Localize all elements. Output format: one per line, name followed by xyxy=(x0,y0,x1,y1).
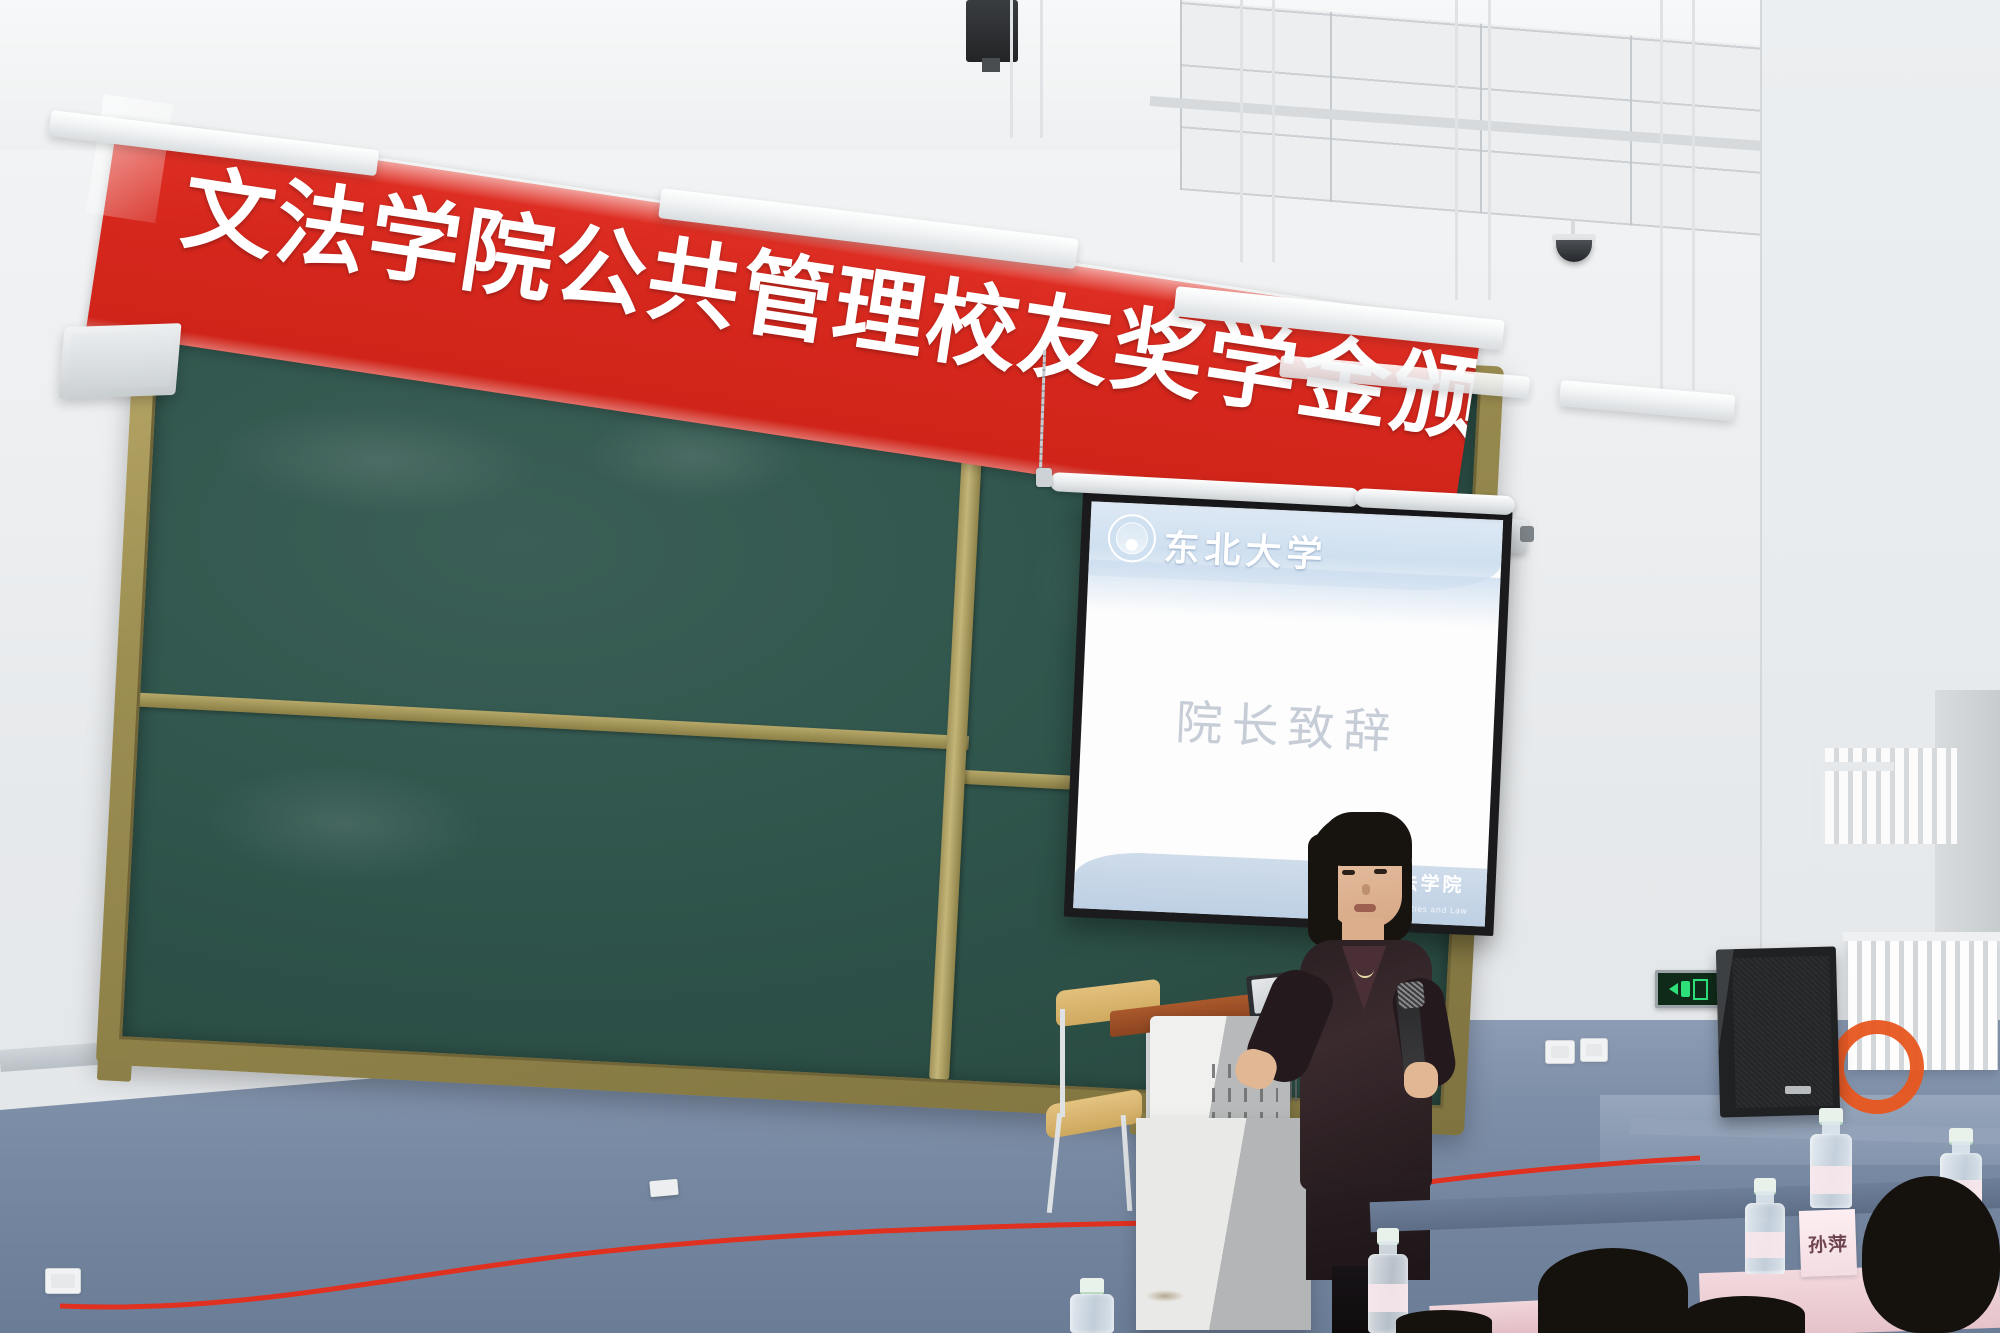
exit-sign xyxy=(1655,970,1721,1008)
bottle-label xyxy=(1368,1284,1408,1312)
name-card-text: 孙萍 xyxy=(1808,1229,1849,1257)
light-hanger-rod xyxy=(1488,0,1491,300)
presenter-right-hand xyxy=(1404,1062,1438,1098)
bottle-neck xyxy=(1379,1241,1397,1255)
light-hanger-rod xyxy=(1040,0,1043,138)
name-card: 孙萍 xyxy=(1799,1209,1857,1277)
lecture-hall-photo: 东北大学 院长致辞 文法学院 School of Humanities and … xyxy=(0,0,2000,1333)
bottle-label xyxy=(1810,1166,1852,1194)
exit-door-icon xyxy=(1693,979,1708,1000)
slide-university-name: 东北大学 xyxy=(1163,519,1329,578)
microphone-head-icon xyxy=(1397,981,1426,1010)
bottle-neck xyxy=(1822,1121,1840,1135)
presenter-mouth xyxy=(1354,904,1376,912)
projector-lens-icon xyxy=(1520,526,1534,542)
blackboard-divider-horizontal xyxy=(139,693,969,750)
exit-sign-face xyxy=(1658,973,1718,1005)
radiator-top-rail xyxy=(1843,932,2000,941)
light-hanger-rod xyxy=(1660,0,1663,390)
ceiling-speaker-mount xyxy=(982,58,1000,72)
blackboard-bracket xyxy=(97,1058,132,1082)
presenter-eye-left xyxy=(1342,870,1355,875)
running-person-icon xyxy=(1681,981,1690,997)
red-floor-cable xyxy=(60,1218,1210,1318)
power-outlet[interactable] xyxy=(1545,1040,1575,1064)
presenter-eye-right xyxy=(1374,869,1387,874)
chalk-smudge xyxy=(201,756,487,890)
audience-head xyxy=(1685,1296,1805,1333)
floor-debris xyxy=(1145,1290,1185,1302)
light-hanger-rod xyxy=(1692,0,1695,390)
radiator-pipe-horizontal xyxy=(1812,762,1894,771)
radiator-pipe xyxy=(1812,760,1821,946)
blackboard-divider-vertical xyxy=(929,366,986,1080)
bottle-cap xyxy=(1080,1278,1105,1295)
water-bottle[interactable] xyxy=(1745,1178,1785,1274)
screen-chain-knob[interactable] xyxy=(1036,468,1052,487)
exit-arrow-icon xyxy=(1669,983,1678,995)
floor-speaker xyxy=(1716,946,1840,1117)
presenter-hair-side xyxy=(1308,834,1338,946)
light-hanger-rod xyxy=(1455,0,1458,300)
light-hanger-rod xyxy=(1010,0,1013,138)
audience-head xyxy=(1538,1248,1688,1333)
water-bottle[interactable] xyxy=(1070,1278,1114,1333)
power-outlet[interactable] xyxy=(1580,1038,1608,1062)
wall-speaker xyxy=(58,323,181,399)
light-hanger-rod xyxy=(1240,0,1243,262)
bottle-body xyxy=(1070,1294,1114,1333)
water-bottle[interactable] xyxy=(1810,1108,1852,1208)
light-hanger-rod xyxy=(1272,0,1275,262)
chalk-smudge xyxy=(210,396,545,523)
presenter-nose xyxy=(1362,884,1370,895)
blackboard-eraser[interactable] xyxy=(649,1179,678,1197)
slide-title: 院长致辞 xyxy=(1080,679,1495,767)
audience-head xyxy=(1862,1176,2000,1333)
orange-cable-coil xyxy=(1830,1020,1924,1114)
chair-leg xyxy=(1060,1009,1065,1117)
speaker-badge xyxy=(1785,1086,1811,1094)
presenter-necklace xyxy=(1356,958,1374,978)
bottle-label xyxy=(1745,1232,1785,1258)
audience-head xyxy=(1396,1310,1492,1333)
